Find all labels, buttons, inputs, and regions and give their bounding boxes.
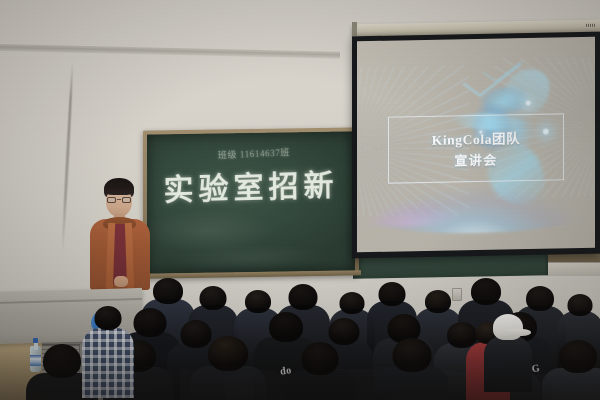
slide-title-line1: KingCola团队	[432, 127, 521, 149]
audience: doSAVING	[0, 268, 600, 400]
audience-person-head	[393, 338, 432, 372]
audience-person-head	[153, 278, 183, 304]
student-in-plaid-shirt	[82, 306, 134, 398]
audience-person-head	[269, 312, 303, 342]
glasses-icon	[107, 197, 131, 203]
audience-person-torso	[542, 368, 600, 400]
audience-person-head	[289, 284, 318, 310]
audience-person-head	[568, 294, 593, 316]
audience-person-torso	[190, 366, 266, 400]
white-cap-torso	[484, 336, 532, 392]
audience-person-head	[245, 290, 271, 313]
plaid-shirt-torso	[82, 328, 134, 398]
audience-person-head	[134, 308, 167, 337]
classroom-photo: 班级 11614637班 实验室招新	[0, 0, 600, 400]
audience-person	[190, 336, 266, 400]
slide-title-block: KingCola团队 宣讲会	[388, 113, 564, 184]
audience-person	[284, 342, 356, 400]
housing-vent-dots	[586, 24, 596, 27]
glasses-left-lens	[107, 197, 116, 203]
audience-person-head	[425, 290, 451, 313]
audience-person-head	[471, 278, 501, 305]
audience-person-head	[379, 282, 406, 306]
housing-end-cap	[352, 22, 357, 36]
plaid-shirt-head	[95, 306, 122, 330]
audience-person-head	[329, 318, 360, 345]
slide-title-line2: 宣讲会	[454, 150, 497, 170]
spark-icon	[525, 100, 530, 106]
blackboard: 班级 11614637班 实验室招新	[143, 127, 359, 278]
audience-person-head	[340, 292, 365, 314]
projector-screen-surface: KingCola团队 宣讲会	[357, 37, 595, 253]
projector-screen: KingCola团队 宣讲会	[352, 32, 600, 259]
audience-person	[542, 340, 600, 400]
audience-person-head	[43, 344, 81, 378]
student-with-white-cap	[484, 314, 532, 392]
baseball-cap	[493, 314, 523, 340]
blackboard-surface: 班级 11614637班 实验室招新	[147, 131, 355, 273]
audience-person-head	[200, 286, 227, 310]
audience-person	[375, 338, 449, 400]
audience-person-head	[526, 286, 554, 311]
blackboard-headline: 实验室招新	[163, 160, 339, 209]
audience-person-head	[302, 342, 339, 375]
audience-person-head	[208, 336, 248, 371]
presenter-fringe	[104, 185, 134, 195]
glasses-bridge	[117, 199, 121, 200]
cap-brim	[509, 329, 531, 336]
audience-person-head	[559, 340, 597, 373]
glasses-right-lens	[122, 197, 131, 203]
